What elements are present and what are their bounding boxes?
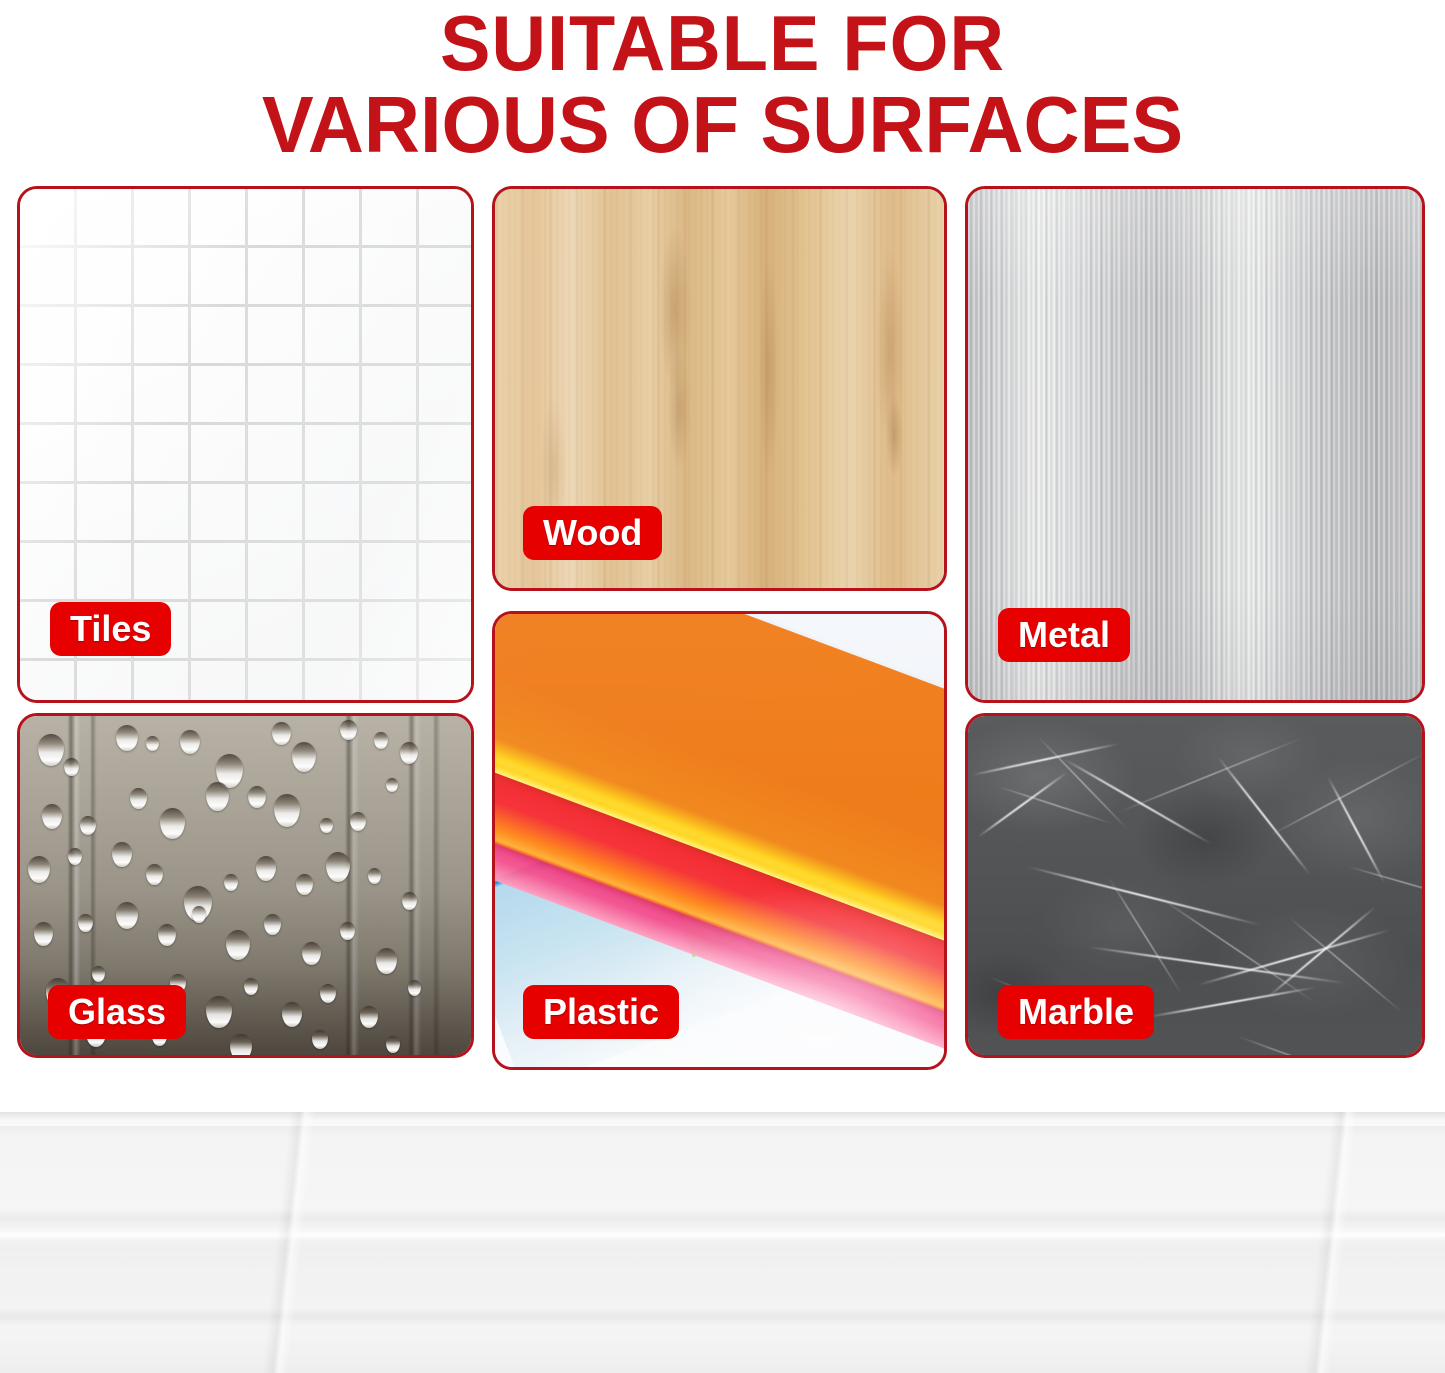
surface-label-metal: Metal [998,608,1130,662]
surface-card-metal[interactable]: Metal [965,186,1425,703]
band-highlight-mid [0,1230,1445,1240]
page-title-line-1: SUITABLE FOR [22,2,1424,84]
surface-label-plastic: Plastic [523,985,679,1039]
page-title: SUITABLE FOR VARIOUS OF SURFACES [22,2,1424,166]
surface-card-tiles[interactable]: Tiles [17,186,474,703]
water-droplet [230,1034,252,1055]
surface-label-wood: Wood [523,506,662,560]
band-groove-lower [0,1308,1445,1326]
surface-card-wood[interactable]: Wood [492,186,947,591]
band-groove-upper [0,1208,1445,1230]
surfaces-infographic: SUITABLE FOR VARIOUS OF SURFACES Tiles W… [0,0,1445,1373]
surface-label-tiles: Tiles [50,602,171,656]
band-seam-left [262,1112,315,1373]
surface-label-glass: Glass [48,985,186,1039]
band-seam-right [1304,1112,1357,1373]
product-edge-band [0,1112,1445,1373]
surface-label-marble: Marble [998,985,1154,1039]
surface-card-marble[interactable]: Marble [965,713,1425,1058]
surface-card-glass[interactable]: Glass [17,713,474,1058]
page-title-line-2: VARIOUS OF SURFACES [22,84,1424,166]
surface-card-plastic[interactable]: Plastic [492,611,947,1070]
band-bevel [0,1112,1445,1126]
